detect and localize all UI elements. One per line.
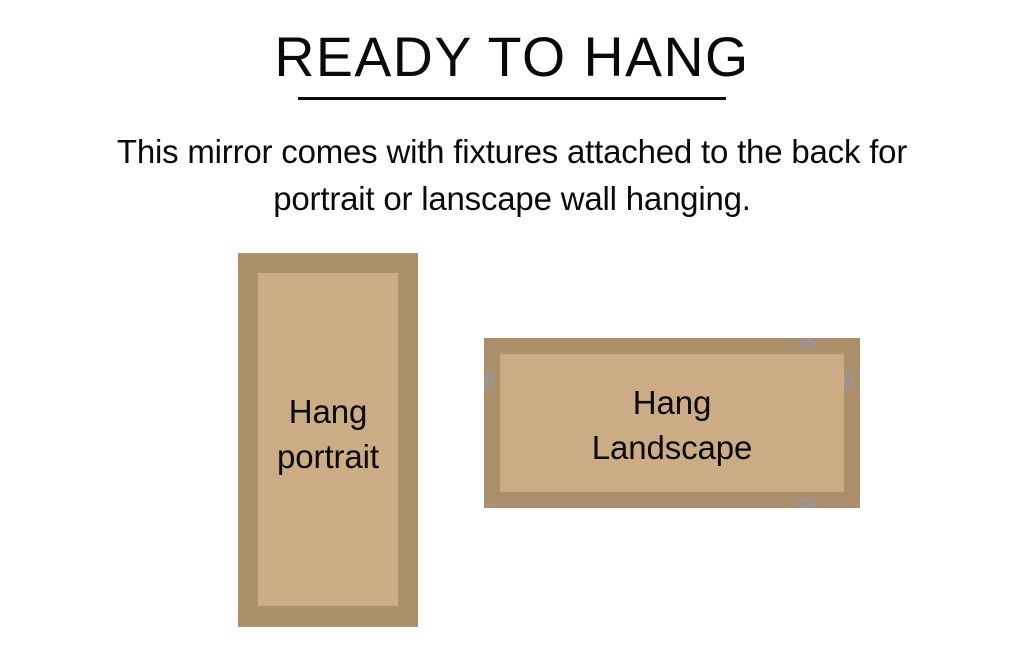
hanging-fixture-eyelet-icon <box>798 499 815 507</box>
header: READY TO HANG <box>0 26 1024 100</box>
mirror-landscape-frame: Hang Landscape <box>484 338 860 508</box>
mirror-portrait-frame: Hang portrait <box>238 253 418 627</box>
hanging-fixture-eyelet-icon <box>798 340 815 348</box>
page-title: READY TO HANG <box>5 26 1019 88</box>
title-underline-divider <box>298 97 726 100</box>
subtitle-description: This mirror comes with fixtures attached… <box>0 128 1024 222</box>
hanging-fixture-eyelet-icon <box>486 372 494 389</box>
mirror-portrait-label: Hang portrait <box>277 389 379 479</box>
hanging-fixture-eyelet-icon <box>844 372 852 389</box>
promo-graphic: READY TO HANG This mirror comes with fix… <box>0 0 1024 668</box>
mirror-landscape-label: Hang Landscape <box>592 380 753 470</box>
